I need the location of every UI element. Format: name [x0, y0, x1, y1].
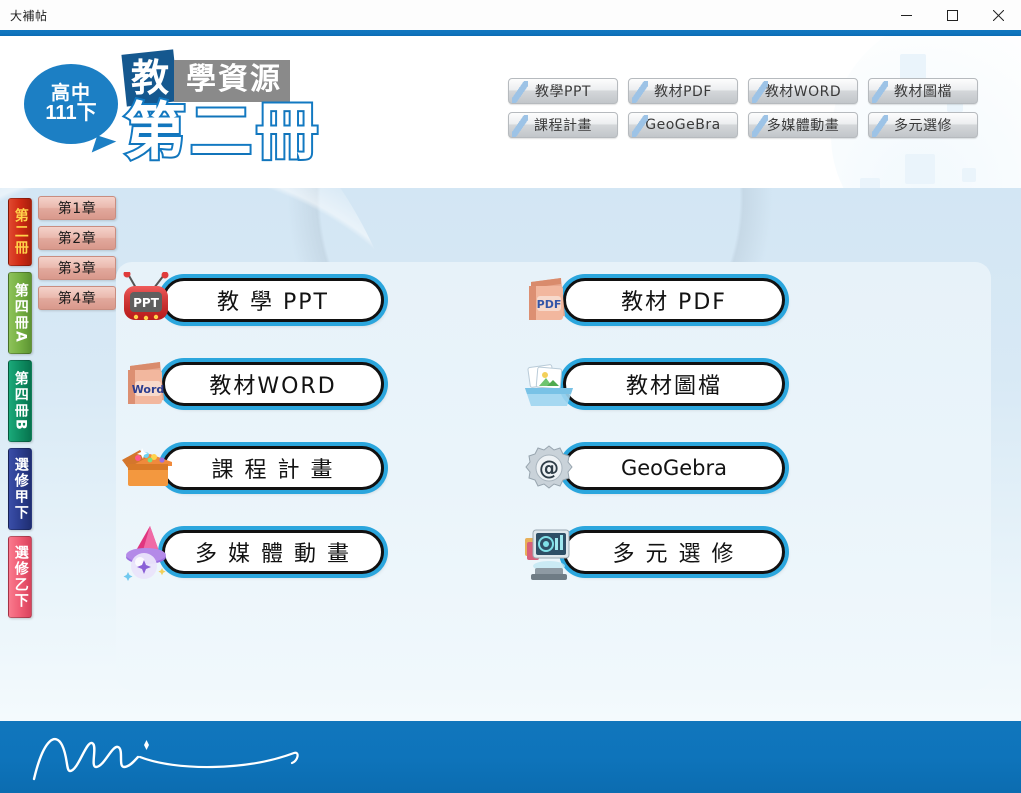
minimize-icon [901, 10, 912, 21]
resource-item-geogebra[interactable]: GeoGebra @ [521, 440, 880, 498]
resource-item-images[interactable]: 教材圖檔 [521, 356, 880, 414]
resource-pill[interactable]: GeoGebra [563, 446, 785, 490]
quick-button-label: 課程計畫 [534, 115, 592, 135]
sidebar-item-elective-b[interactable]: 選修乙下 [8, 536, 32, 618]
resource-item-ppt[interactable]: 教 學 PPT PPT [120, 272, 479, 330]
sidebar-item-volume-4a[interactable]: 第四冊A [8, 272, 32, 354]
resource-label: 教材圖檔 [626, 368, 722, 400]
slash-icon [752, 81, 768, 103]
sidebar-item-label: 第二冊 [12, 208, 27, 256]
quick-button-syllabus[interactable]: 課程計畫 [508, 112, 618, 138]
slash-icon [512, 81, 528, 103]
close-icon [993, 10, 1004, 21]
resource-label: 課 程 計 畫 [212, 452, 335, 484]
resource-button-grid: 教 學 PPT PPT [120, 272, 880, 582]
quick-button-images[interactable]: 教材圖檔 [868, 78, 978, 104]
maximize-button[interactable] [929, 0, 975, 30]
header-deco-square [900, 54, 926, 80]
window-title: 大補帖 [10, 7, 48, 24]
quick-button-label: GeoGeBra [645, 117, 720, 133]
slash-icon [632, 115, 648, 137]
resource-label: 教材 PDF [621, 284, 727, 316]
header-quick-buttons-row1: 教學PPT 教材PDF 教材WORD 教材圖檔 [508, 78, 988, 104]
sidebar-item-label: 第四冊B [12, 371, 27, 432]
sidebar-item-label: 選修甲下 [12, 457, 27, 521]
quick-button-label: 教材PDF [654, 81, 712, 101]
quick-button-multimedia[interactable]: 多媒體動畫 [748, 112, 858, 138]
quick-button-ppt[interactable]: 教學PPT [508, 78, 618, 104]
window-titlebar: 大補帖 [0, 0, 1021, 30]
header-deco-square [962, 168, 976, 182]
word-book-icon: Word [120, 356, 176, 414]
sidebar-item-label: 選修乙下 [12, 545, 27, 609]
close-button[interactable] [975, 0, 1021, 30]
resource-item-word[interactable]: 教材WORD Word [120, 356, 479, 414]
maximize-icon [947, 10, 958, 21]
svg-text:Word: Word [132, 383, 165, 396]
quick-button-pdf[interactable]: 教材PDF [628, 78, 738, 104]
app-footer: 建議使用office 2007 以上版本 服務中心 回首頁 離 開 [0, 721, 1021, 793]
header-deco-square [860, 178, 880, 188]
sidebar-item-label: 第四冊A [12, 283, 27, 344]
quick-button-geogebra[interactable]: GeoGeBra [628, 112, 738, 138]
resource-label: 多 元 選 修 [613, 536, 736, 568]
sidebar-item-volume-2[interactable]: 第二冊 [8, 198, 32, 266]
chapter-button-label: 第2章 [58, 228, 96, 248]
slash-icon [632, 81, 648, 103]
slash-icon [512, 115, 528, 137]
quick-button-label: 教學PPT [535, 81, 591, 101]
header-quick-buttons: 教學PPT 教材PDF 教材WORD 教材圖檔 課程計畫 GeoGeB [508, 78, 988, 146]
grade-badge-line2: 111下 [45, 103, 96, 124]
ppt-tv-icon: PPT [120, 272, 176, 330]
resource-pill[interactable]: 多 媒 體 動 畫 [162, 530, 384, 574]
minimize-button[interactable] [883, 0, 929, 30]
resource-pill[interactable]: 教材WORD [162, 362, 384, 406]
slash-icon [872, 115, 888, 137]
slash-icon [872, 81, 888, 103]
chapter-button-2[interactable]: 第2章 [38, 226, 116, 250]
logo-subtitle-text: 學資源 [186, 65, 282, 95]
resource-pill[interactable]: 教材 PDF [563, 278, 785, 322]
treasure-box-icon [120, 440, 176, 498]
resource-pill[interactable]: 課 程 計 畫 [162, 446, 384, 490]
resource-pill[interactable]: 多 元 選 修 [563, 530, 785, 574]
pdf-folder-icon: PDF [521, 272, 577, 330]
sidebar-item-elective-a[interactable]: 選修甲下 [8, 448, 32, 530]
svg-text:PPT: PPT [133, 296, 160, 310]
chapter-button-4[interactable]: 第4章 [38, 286, 116, 310]
quick-button-electives[interactable]: 多元選修 [868, 112, 978, 138]
magic-hat-icon [120, 524, 176, 582]
resource-item-pdf[interactable]: 教材 PDF PDF [521, 272, 880, 330]
chapter-button-1[interactable]: 第1章 [38, 196, 116, 220]
logo-subtitle-box: 學資源 [174, 60, 290, 102]
resource-label: 教 學 PPT [217, 284, 329, 316]
quick-button-word[interactable]: 教材WORD [748, 78, 858, 104]
svg-text:PDF: PDF [537, 298, 562, 311]
resource-item-electives[interactable]: 多 元 選 修 [521, 524, 880, 582]
quick-button-label: 教材WORD [765, 81, 841, 101]
logo-mark-char: 教 [131, 59, 169, 97]
chapter-list: 第1章 第2章 第3章 第4章 [38, 196, 116, 316]
resource-pill[interactable]: 教 學 PPT [162, 278, 384, 322]
sidebar-item-volume-4b[interactable]: 第四冊B [8, 360, 32, 442]
resource-pill[interactable]: 教材圖檔 [563, 362, 785, 406]
resource-item-multimedia[interactable]: 多 媒 體 動 畫 [120, 524, 479, 582]
chapter-button-label: 第1章 [58, 198, 96, 218]
grade-badge: 高中 111下 [24, 64, 118, 144]
quick-button-label: 多元選修 [894, 115, 952, 135]
nani-logo [26, 727, 316, 785]
main-stage: 第二冊 第四冊A 第四冊B 選修甲下 選修乙下 第1章 第2章 第3章 第4章 [0, 188, 1021, 721]
grade-badge-line1: 高中 [51, 84, 91, 104]
chapter-button-3[interactable]: 第3章 [38, 256, 116, 280]
resource-label: 教材WORD [209, 368, 336, 400]
resource-label: GeoGebra [621, 456, 727, 480]
resource-label: 多 媒 體 動 畫 [195, 536, 351, 568]
quick-button-label: 多媒體動畫 [767, 115, 840, 135]
image-folder-icon [521, 356, 577, 414]
page-title: 第二冊 [124, 102, 322, 164]
window-controls [883, 0, 1021, 30]
app-header: 高中 111下 教 學資源 第二冊 教學PPT 教材PDF 教材WORD [0, 36, 1021, 188]
sidebar-volume-tabs: 第二冊 第四冊A 第四冊B 選修甲下 選修乙下 [8, 198, 32, 624]
svg-text:@: @ [539, 456, 559, 480]
header-deco-square [905, 154, 935, 184]
slash-icon [752, 115, 768, 137]
chapter-button-label: 第4章 [58, 288, 96, 308]
resource-item-syllabus[interactable]: 課 程 計 畫 [120, 440, 479, 498]
app-logo: 高中 111下 教 學資源 第二冊 [24, 44, 324, 184]
gear-at-icon: @ [521, 440, 577, 498]
monitor-chart-icon [521, 524, 577, 582]
header-quick-buttons-row2: 課程計畫 GeoGeBra 多媒體動畫 多元選修 [508, 112, 988, 138]
quick-button-label: 教材圖檔 [894, 81, 952, 101]
chapter-button-label: 第3章 [58, 258, 96, 278]
